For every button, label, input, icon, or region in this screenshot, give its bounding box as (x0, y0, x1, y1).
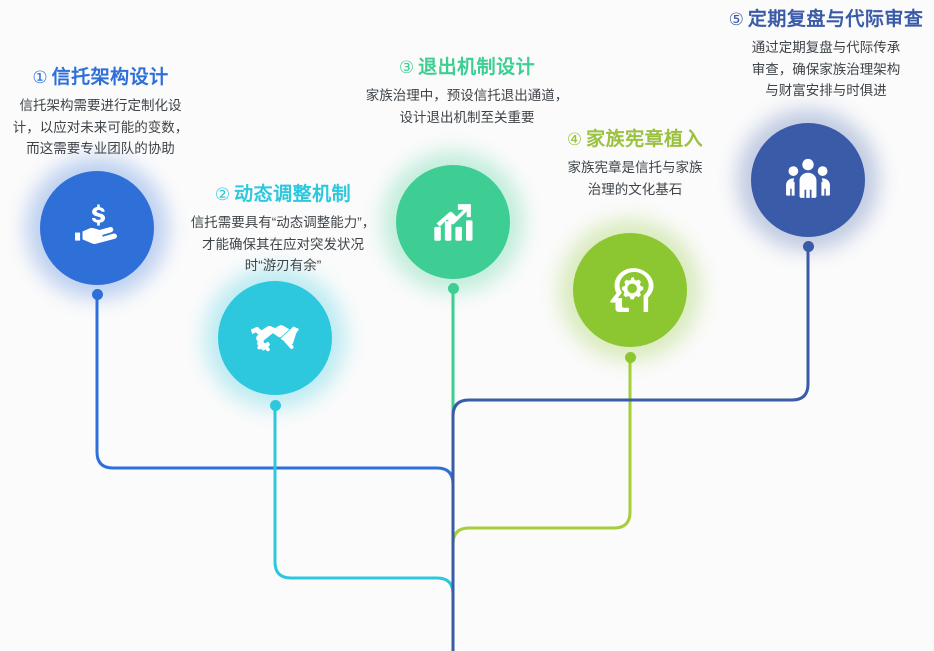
step-number-5: ⑤ (729, 10, 744, 29)
step-text-block-2: ②动态调整机制信托需要具有“动态调整能力”， 才能确保其在应对突发状况 时“游刃… (188, 183, 378, 277)
connector-dot-1 (92, 289, 103, 300)
step-title-3: ③退出机制设计 (352, 56, 582, 80)
step-number-4: ④ (567, 130, 582, 149)
step-text-block-3: ③退出机制设计家族治理中，预设信托退出通道， 设计退出机制至关重要 (352, 56, 582, 128)
step-title-2: ②动态调整机制 (188, 183, 378, 207)
hand-holding-dollar-icon (71, 202, 123, 254)
connector-dot-2 (270, 400, 281, 411)
infographic-canvas: ①信托架构设计信托架构需要进行定制化设 计，以应对未来可能的变数， 而这需要专业… (0, 0, 934, 651)
step-number-2: ② (215, 185, 230, 204)
connector-dot-3 (448, 283, 459, 294)
step-title-1: ①信托架构设计 (8, 66, 193, 90)
step-circle-1[interactable] (40, 171, 154, 285)
handshake-icon (248, 311, 302, 365)
connector-dot-4 (625, 352, 636, 363)
step-title-5: ⑤定期复盘与代际审查 (720, 8, 932, 32)
step-description-4: 家族宪章是信托与家族 治理的文化基石 (540, 157, 730, 201)
step-description-2: 信托需要具有“动态调整能力”， 才能确保其在应对突发状况 时“游刃有余” (188, 212, 378, 278)
step-title-label-4: 家族宪章植入 (586, 129, 703, 150)
step-description-3: 家族治理中，预设信托退出通道， 设计退出机制至关重要 (352, 85, 582, 129)
step-text-block-5: ⑤定期复盘与代际审查通过定期复盘与代际传承 审查，确保家族治理架构 与财富安排与… (720, 8, 932, 102)
step-circle-5[interactable] (751, 123, 865, 237)
step-title-label-5: 定期复盘与代际审查 (748, 9, 924, 30)
step-title-4: ④家族宪章植入 (540, 128, 730, 152)
people-group-icon (782, 154, 834, 206)
connector-step-2 (275, 405, 453, 651)
step-text-block-1: ①信托架构设计信托架构需要进行定制化设 计，以应对未来可能的变数， 而这需要专业… (8, 66, 193, 160)
step-text-block-4: ④家族宪章植入家族宪章是信托与家族 治理的文化基石 (540, 128, 730, 200)
step-description-1: 信托架构需要进行定制化设 计，以应对未来可能的变数， 而这需要专业团队的协助 (8, 95, 193, 161)
step-title-label-3: 退出机制设计 (418, 57, 535, 78)
step-description-5: 通过定期复盘与代际传承 审查，确保家族治理架构 与财富安排与时俱进 (720, 37, 932, 103)
step-circle-4[interactable] (573, 233, 687, 347)
step-number-1: ① (32, 68, 47, 87)
step-circle-3[interactable] (396, 165, 510, 279)
connector-dot-5 (803, 241, 814, 252)
step-number-3: ③ (399, 58, 414, 77)
step-title-label-1: 信托架构设计 (52, 67, 169, 88)
head-gear-icon (604, 264, 656, 316)
step-circle-2[interactable] (218, 281, 332, 395)
growth-chart-icon (427, 196, 479, 248)
step-title-label-2: 动态调整机制 (234, 184, 351, 205)
